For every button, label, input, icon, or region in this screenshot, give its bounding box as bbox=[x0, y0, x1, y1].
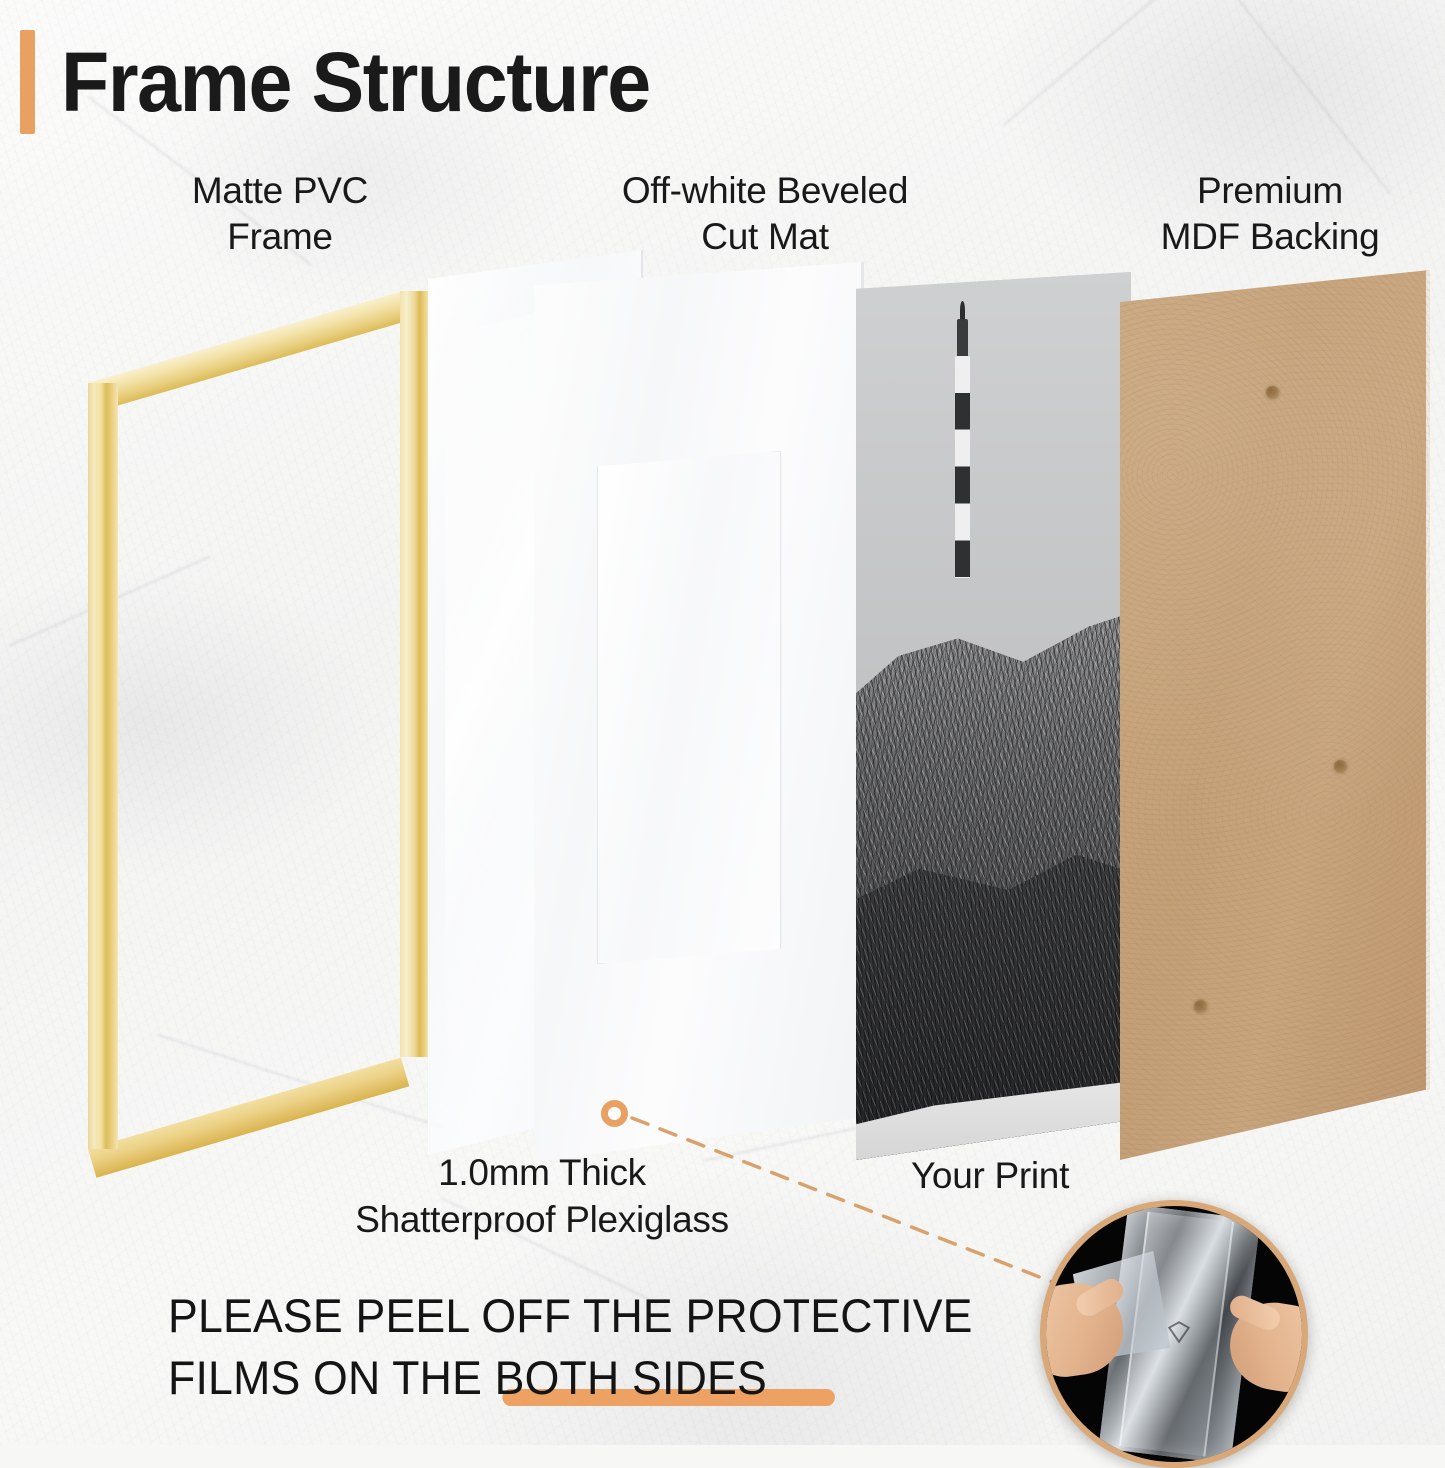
mdf-knot-3 bbox=[1194, 1000, 1207, 1013]
notice-line-1: PLEASE PEEL OFF THE PROTECTIVE bbox=[168, 1285, 1004, 1347]
diamond-logo-icon bbox=[1164, 1319, 1194, 1345]
label-matte-pvc-frame: Matte PVC Frame bbox=[130, 168, 430, 260]
layer-print-photo bbox=[856, 272, 1131, 1160]
mdf-knot-2 bbox=[1334, 760, 1347, 773]
peel-film-notice: PLEASE PEEL OFF THE PROTECTIVE FILMS ON … bbox=[168, 1285, 1004, 1409]
frame-rail-top bbox=[88, 292, 409, 412]
label-line-1: Matte PVC bbox=[130, 168, 430, 214]
label-line-2: Shatterproof Plexiglass bbox=[272, 1197, 812, 1244]
layer-cut-mat bbox=[534, 262, 864, 1162]
layer-mdf-backing bbox=[1120, 270, 1430, 1160]
label-mdf-backing: Premium MDF Backing bbox=[1095, 168, 1445, 260]
mdf-face bbox=[1120, 270, 1430, 1160]
label-line-2: Cut Mat bbox=[555, 214, 975, 260]
page-title: Frame Structure bbox=[61, 40, 650, 124]
protective-film-inset-photo bbox=[1040, 1200, 1308, 1468]
label-line-2: Frame bbox=[130, 214, 430, 260]
callout-marker-dot bbox=[601, 1100, 628, 1127]
layer-matte-pvc-frame bbox=[70, 255, 450, 1155]
label-line-1: Off-white Beveled bbox=[555, 168, 975, 214]
mdf-knot-1 bbox=[1266, 386, 1279, 399]
lighthouse-icon bbox=[955, 356, 970, 578]
notice-line-2-wrap: FILMS ON THE BOTH SIDES bbox=[168, 1347, 1004, 1409]
label-line-2: MDF Backing bbox=[1095, 214, 1445, 260]
label-cut-mat: Off-white Beveled Cut Mat bbox=[555, 168, 975, 260]
mat-face bbox=[534, 262, 864, 1162]
label-your-print: Your Print bbox=[855, 1155, 1125, 1197]
label-line-1: 1.0mm Thick bbox=[272, 1150, 812, 1197]
print-face bbox=[856, 272, 1131, 1160]
title-accent-bar bbox=[20, 30, 35, 134]
frame-rail-right bbox=[400, 291, 430, 1057]
label-plexiglass: 1.0mm Thick Shatterproof Plexiglass bbox=[272, 1150, 812, 1243]
page-header: Frame Structure bbox=[20, 30, 687, 134]
label-line-1: Premium bbox=[1095, 168, 1445, 214]
frame-rail-left bbox=[88, 383, 118, 1149]
notice-line-2: FILMS ON THE BOTH SIDES bbox=[168, 1351, 767, 1404]
mat-bevel-edge bbox=[597, 451, 782, 964]
